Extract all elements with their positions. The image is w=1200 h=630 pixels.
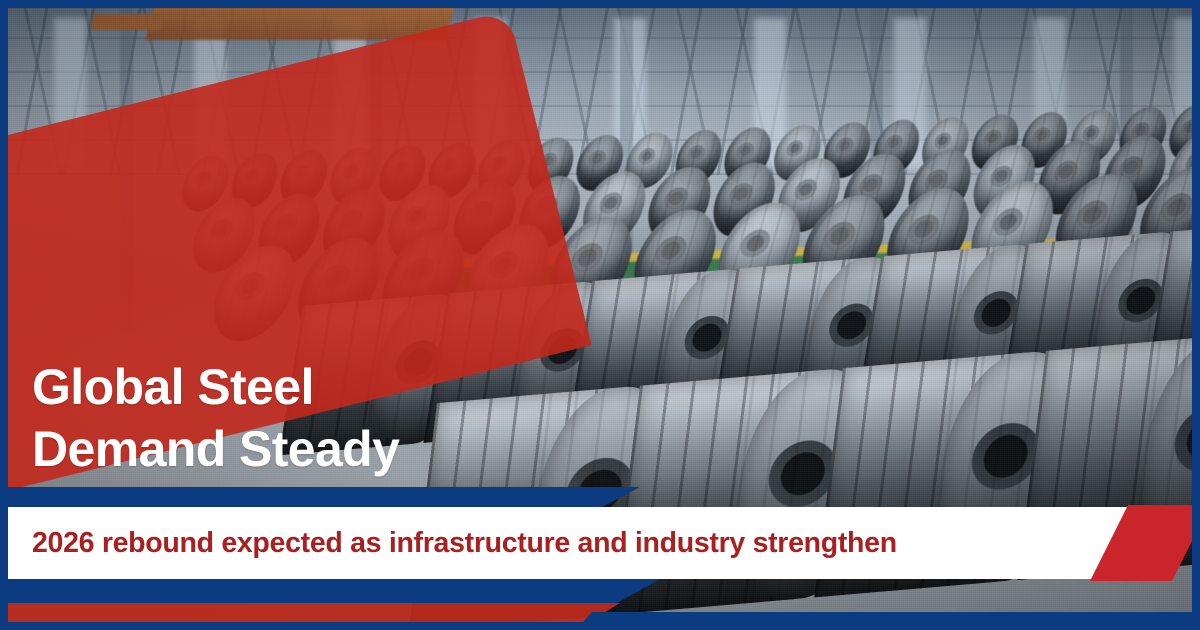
blue-slant-bar [0, 487, 640, 507]
headline-line-1: Global Steel [32, 356, 399, 418]
news-banner-card: Global Steel Demand Steady 2026 rebound … [0, 0, 1200, 630]
page-title: Global Steel Demand Steady [32, 356, 399, 480]
banner-frame-bottom [0, 622, 1200, 630]
subheadline-text: 2026 rebound expected as infrastructure … [32, 507, 1092, 579]
bottom-blue-bar [0, 579, 660, 603]
headline-line-2: Demand Steady [32, 418, 399, 480]
